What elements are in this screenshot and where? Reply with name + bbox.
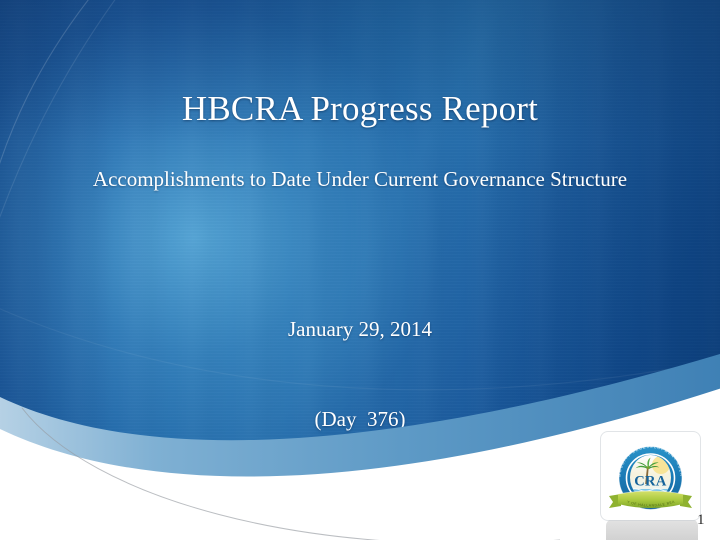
logo-cra-text: CRA bbox=[634, 474, 667, 490]
slide-canvas: HBCRA Progress Report Accomplishments to… bbox=[0, 0, 720, 540]
cra-logo: CRA COMMUNITY REDEVELOPMENT AGENCY CITY … bbox=[601, 432, 700, 520]
page-number: 1 bbox=[697, 511, 717, 529]
logo-shadow-plate bbox=[606, 519, 698, 540]
cra-logo-card: CRA COMMUNITY REDEVELOPMENT AGENCY CITY … bbox=[601, 432, 700, 520]
